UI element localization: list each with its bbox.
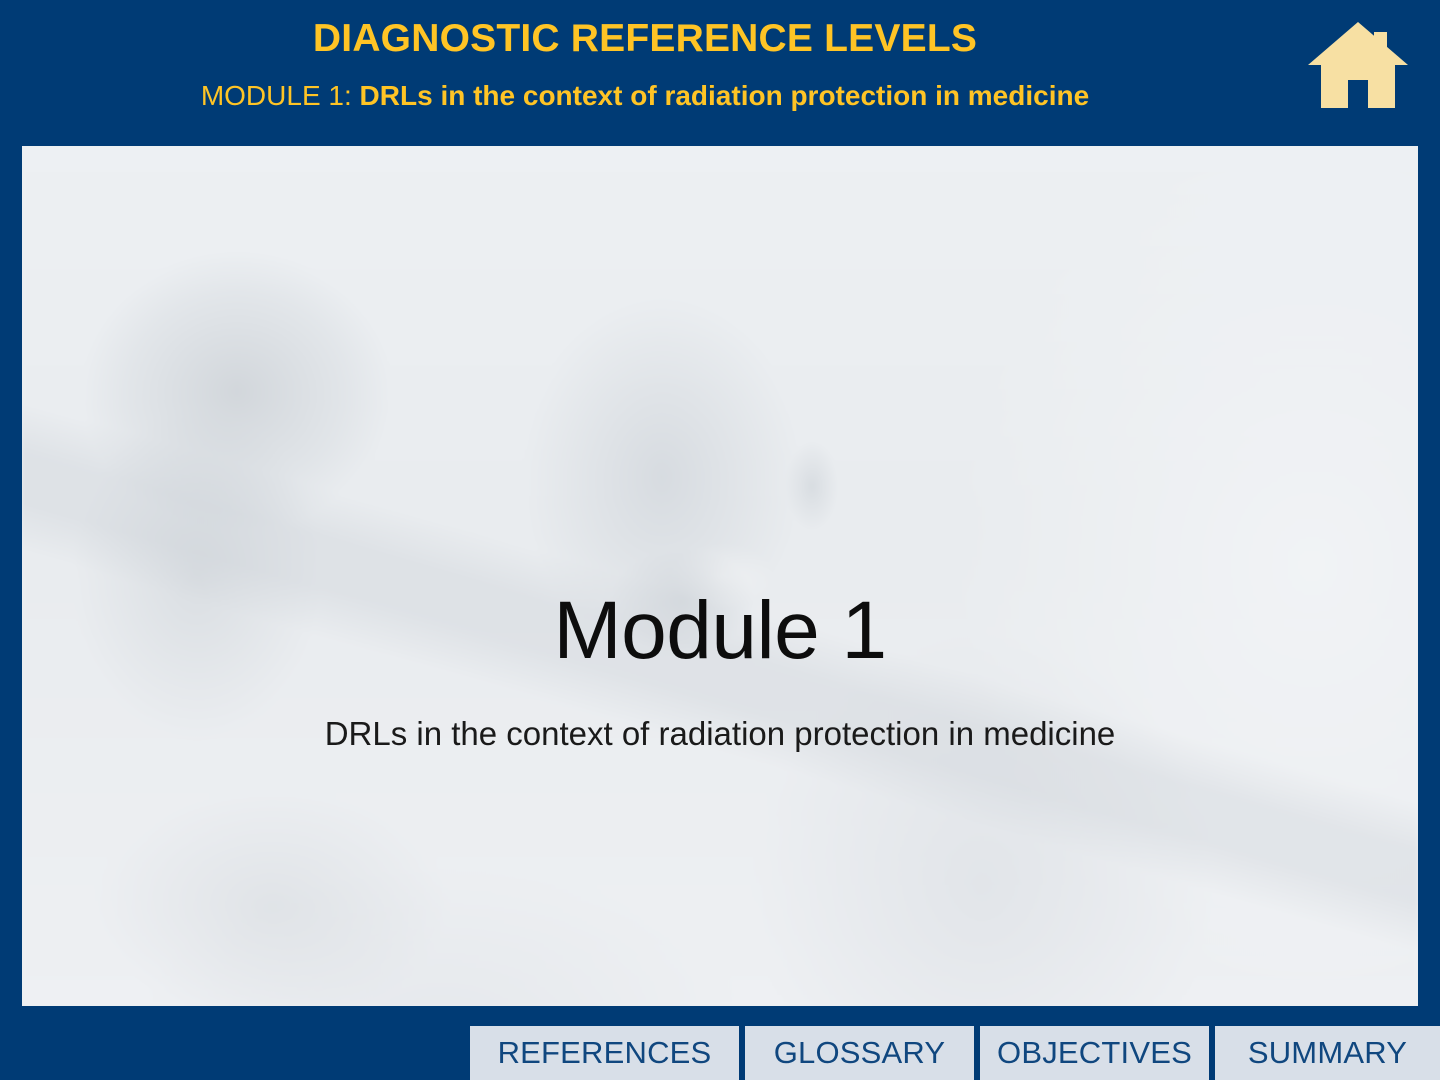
- module-label: MODULE 1:: [201, 80, 352, 111]
- nav-button-glossary[interactable]: GLOSSARY: [745, 1026, 974, 1080]
- module-breadcrumb: MODULE 1: DRLs in the context of radiati…: [0, 78, 1290, 114]
- nav-button-references[interactable]: REFERENCES: [470, 1026, 739, 1080]
- bottom-navigation: REFERENCES GLOSSARY OBJECTIVES SUMMARY: [470, 1026, 1440, 1080]
- module-subheading: DRLs in the context of radiation protect…: [22, 712, 1418, 756]
- nav-button-summary[interactable]: SUMMARY: [1215, 1026, 1440, 1080]
- nav-button-objectives[interactable]: OBJECTIVES: [980, 1026, 1209, 1080]
- module-heading: Module 1: [22, 583, 1418, 679]
- module-name: DRLs in the context of radiation protect…: [360, 80, 1090, 111]
- home-button[interactable]: [1300, 18, 1416, 114]
- home-icon: [1306, 20, 1410, 112]
- header-bar: DIAGNOSTIC REFERENCE LEVELS MODULE 1: DR…: [0, 0, 1440, 136]
- slide-content-panel: Module 1 DRLs in the context of radiatio…: [22, 146, 1418, 1006]
- presentation-slide: DIAGNOSTIC REFERENCE LEVELS MODULE 1: DR…: [0, 0, 1440, 1080]
- course-title: DIAGNOSTIC REFERENCE LEVELS: [0, 16, 1290, 62]
- slide-text-block: Module 1 DRLs in the context of radiatio…: [22, 146, 1418, 1006]
